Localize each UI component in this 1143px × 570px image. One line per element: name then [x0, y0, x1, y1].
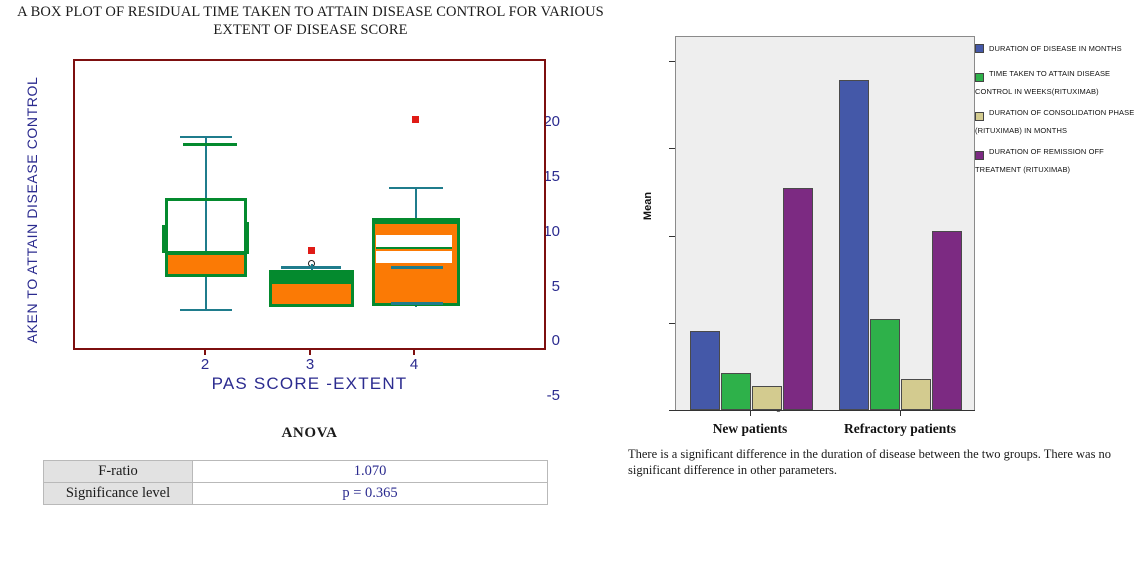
barchart-y-axis-label: Mean	[642, 166, 654, 246]
bar-refractory-duration-disease	[839, 80, 869, 410]
legend-item-duration-disease: DURATION OF DISEASE IN MONTHS	[975, 38, 1143, 60]
boxplot-3-whisker-cap-top	[281, 266, 341, 269]
right-panel: Mean 20 15 10 5 0	[620, 0, 1143, 570]
barchart-xlabel-refractory-patients: Refractory patients	[810, 421, 990, 437]
legend-swatch-icon-khaki	[975, 112, 984, 121]
boxplot-x-axis-label: PAS SCORE -EXTENT	[73, 374, 546, 394]
boxplot-xtickmark-3	[309, 348, 311, 355]
boxplot-2-left-stub	[162, 225, 166, 253]
legend-item-remission: DURATION OF REMISSION OFF TREATMENT (RIT…	[975, 141, 1143, 177]
boxplot-4-white-band-lower	[376, 251, 452, 263]
legend-label-consolidation: DURATION OF CONSOLIDATION PHASE (RITUXIM…	[975, 108, 1134, 135]
legend-label-duration-disease: DURATION OF DISEASE IN MONTHS	[989, 44, 1122, 53]
bar-refractory-consolidation	[901, 379, 931, 410]
boxplot-4-inner-tick-upper	[391, 266, 443, 269]
boxplot-4-top-edge	[372, 218, 460, 222]
boxplot-2-green-cap	[183, 143, 237, 146]
boxplot-2-whisker-cap-top	[180, 136, 232, 138]
boxplot-3-orange-box	[269, 281, 354, 307]
boxplot-y-axis-label: AKEN TO ATTAIN DISEASE CONTROL	[24, 60, 40, 360]
bar-new-duration-disease	[690, 331, 720, 410]
chart-caption: There is a significant difference in the…	[628, 446, 1118, 478]
anova-heading: ANOVA	[73, 425, 546, 442]
anova-label-f-ratio: F-ratio	[44, 461, 193, 483]
anova-table: F-ratio 1.070 Significance level p = 0.3…	[43, 460, 548, 505]
legend-label-remission: DURATION OF REMISSION OFF TREATMENT (RIT…	[975, 147, 1104, 174]
boxplot-4-outlier	[412, 116, 419, 123]
boxplot-4-orange-box	[372, 221, 460, 306]
legend-item-consolidation: DURATION OF CONSOLIDATION PHASE (RITUXIM…	[975, 102, 1143, 138]
box-plot-chart: AKEN TO ATTAIN DISEASE CONTROL 20 15 10 …	[0, 52, 560, 362]
barchart-baseline	[675, 410, 975, 411]
legend-swatch-icon-green	[975, 73, 984, 82]
boxplot-frame	[73, 59, 546, 350]
boxplot-xtick-2: 2	[185, 356, 225, 373]
boxplot-2-right-stub	[244, 222, 249, 254]
anova-value-significance: p = 0.365	[193, 483, 548, 505]
figure-page: A BOX PLOT OF RESIDUAL TIME TAKEN TO ATT…	[0, 0, 1143, 570]
boxplot-2-orange-box	[165, 252, 247, 277]
boxplot-4-inner-tick-lower	[391, 302, 443, 305]
bar-refractory-time-to-control	[870, 319, 900, 410]
boxplot-3-outlier	[308, 247, 315, 254]
boxplot-xtick-4: 4	[394, 356, 434, 373]
boxplot-2-green-box	[165, 198, 247, 254]
boxplot-xtick-3: 3	[290, 356, 330, 373]
table-row: Significance level p = 0.365	[44, 483, 548, 505]
legend-swatch-icon-blue	[975, 44, 984, 53]
boxplot-4-white-band-upper	[376, 235, 452, 247]
boxplot-xtickmark-4	[413, 348, 415, 355]
barchart-xtickmark-refractory	[900, 410, 901, 416]
bar-refractory-remission	[932, 231, 962, 410]
boxplot-4-whisker-cap-top	[389, 187, 443, 189]
boxplot-4-median-green	[376, 247, 452, 249]
bar-new-time-to-control	[721, 373, 751, 410]
anova-label-significance: Significance level	[44, 483, 193, 505]
anova-value-f-ratio: 1.070	[193, 461, 548, 483]
barchart-xtickmark-new	[750, 410, 751, 416]
legend-label-time-to-control: TIME TAKEN TO ATTAIN DISEASE CONTROL IN …	[975, 69, 1110, 96]
bar-new-consolidation	[752, 386, 782, 410]
legend-item-time-to-control: TIME TAKEN TO ATTAIN DISEASE CONTROL IN …	[975, 63, 1143, 99]
barchart-legend: DURATION OF DISEASE IN MONTHS TIME TAKEN…	[975, 38, 1143, 180]
figure-title: A BOX PLOT OF RESIDUAL TIME TAKEN TO ATT…	[8, 3, 613, 39]
boxplot-xtickmark-2	[204, 348, 206, 355]
table-row: F-ratio 1.070	[44, 461, 548, 483]
barchart-plot-area	[675, 36, 975, 411]
boxplot-2-whisker-cap-bottom	[180, 309, 232, 311]
left-panel: A BOX PLOT OF RESIDUAL TIME TAKEN TO ATT…	[0, 0, 620, 570]
bar-new-remission	[783, 188, 813, 410]
legend-swatch-icon-purple	[975, 151, 984, 160]
